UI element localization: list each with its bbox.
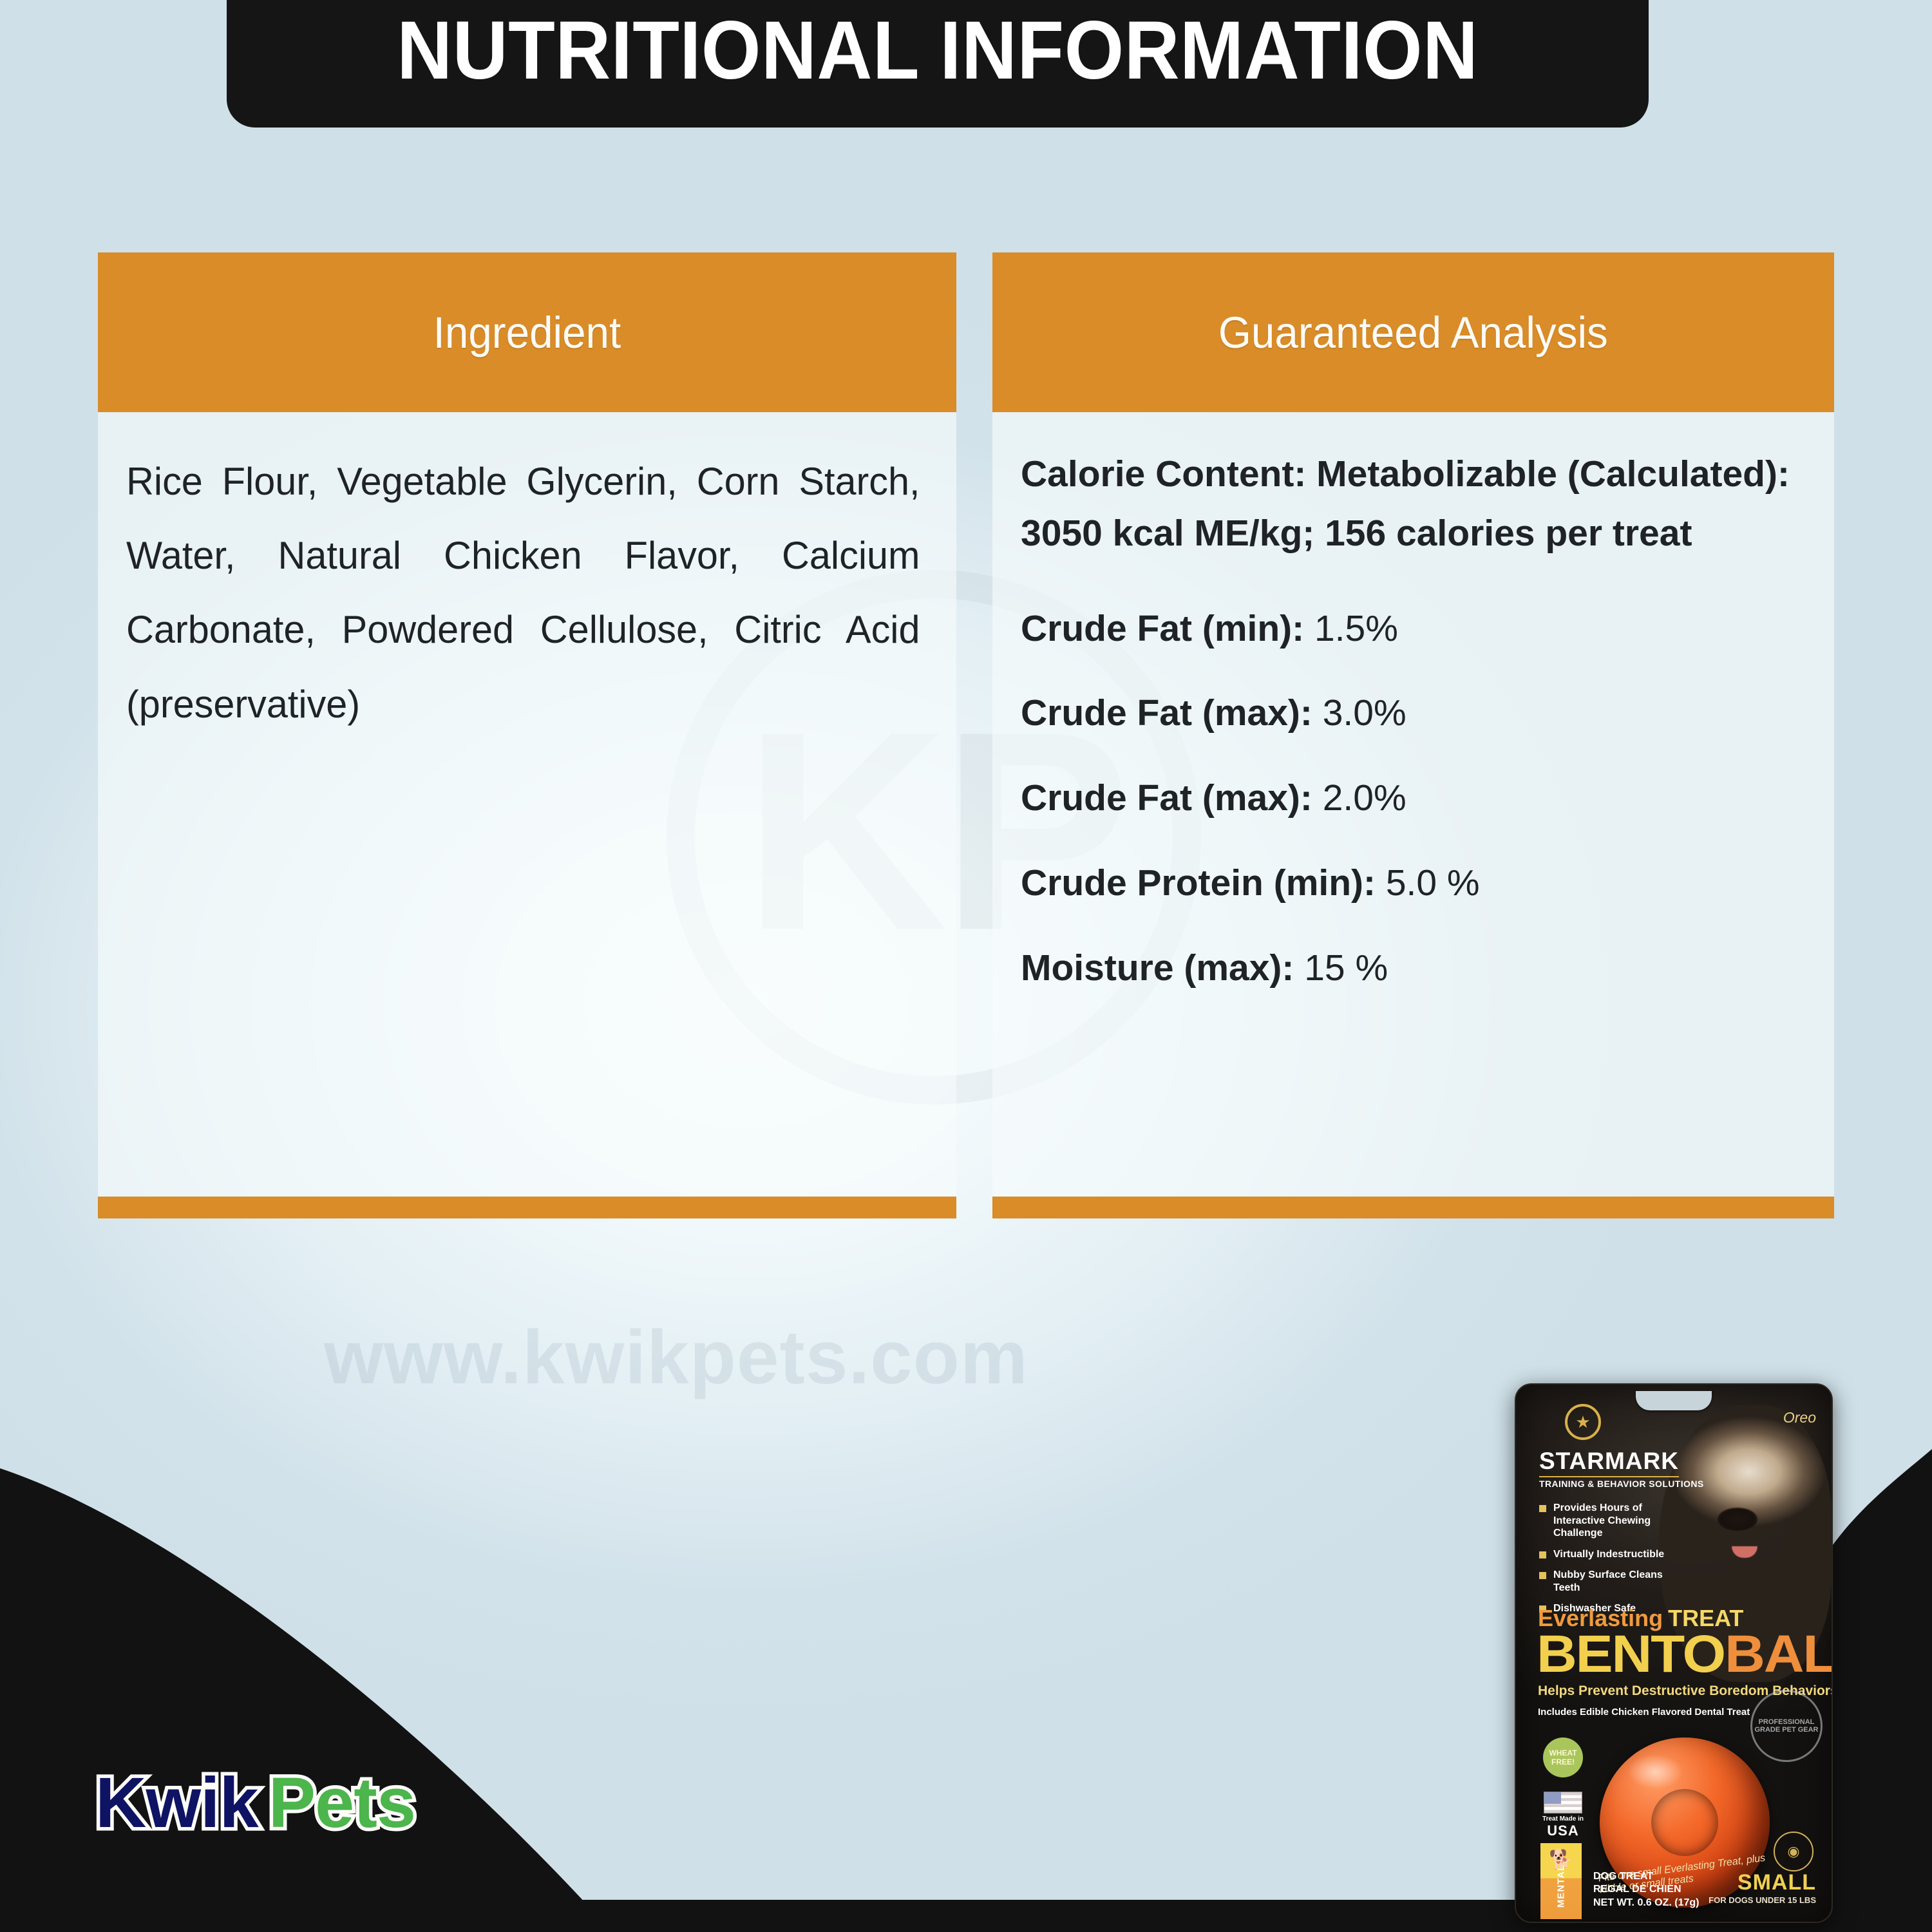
wheat-free-badge: WHEAT FREE! bbox=[1543, 1738, 1583, 1777]
kwik-pets-logo[interactable]: KwikPets bbox=[95, 1768, 415, 1839]
package-product-name-bento: BENTO bbox=[1537, 1625, 1725, 1683]
made-in-country: USA bbox=[1540, 1823, 1586, 1839]
package-dog-treat-label: DOG TREAT bbox=[1593, 1870, 1699, 1884]
package-feature-item: Nubby Surface Cleans Teeth bbox=[1539, 1569, 1687, 1594]
package-size-block: SMALL FOR DOGS UNDER 15 LBS bbox=[1709, 1870, 1816, 1905]
analysis-row-value: 2.0% bbox=[1312, 777, 1406, 819]
analysis-row-label: Crude Protein (min): bbox=[1021, 862, 1376, 904]
bento-ball-highlight bbox=[1627, 1754, 1683, 1789]
package-flavor-name: Oreo bbox=[1783, 1409, 1816, 1426]
made-in-label: Treat Made in bbox=[1540, 1815, 1586, 1823]
analysis-column-footer-bar bbox=[992, 1197, 1834, 1218]
analysis-row-value: 1.5% bbox=[1304, 608, 1398, 649]
analysis-row: Calorie Content: Metabolizable (Calculat… bbox=[1021, 444, 1806, 563]
package-net-weight-block: DOG TREAT REGAL DE CHIEN NET WT. 0.6 OZ.… bbox=[1593, 1870, 1699, 1910]
mental-stimulation-tab: 🐕 MENTAL bbox=[1540, 1843, 1582, 1919]
analysis-column-header: Guaranteed Analysis bbox=[992, 252, 1834, 412]
package-product-name: BENTOBALL bbox=[1537, 1628, 1833, 1681]
analysis-row-label: Moisture (max): bbox=[1021, 947, 1294, 989]
dog-tongue bbox=[1732, 1546, 1757, 1558]
ingredient-list-text: Rice Flour, Vegetable Glycerin, Corn Sta… bbox=[126, 444, 920, 741]
page-title: NUTRITIONAL INFORMATION bbox=[397, 10, 1478, 92]
ingredient-column-header: Ingredient bbox=[98, 252, 956, 412]
ingredient-column-body: Rice Flour, Vegetable Glycerin, Corn Sta… bbox=[98, 412, 956, 1197]
bento-ball-treat-core bbox=[1651, 1789, 1718, 1856]
ingredient-header-label: Ingredient bbox=[433, 307, 621, 358]
analysis-header-label: Guaranteed Analysis bbox=[1218, 307, 1608, 358]
starmark-star-icon: ★ bbox=[1565, 1404, 1601, 1440]
ingredient-column-footer-bar bbox=[98, 1197, 956, 1218]
nutrition-table: Ingredient Rice Flour, Vegetable Glyceri… bbox=[98, 252, 1834, 1218]
package-includes-text: Includes Edible Chicken Flavored Dental … bbox=[1538, 1707, 1750, 1718]
package-feature-item: Provides Hours of Interactive Chewing Ch… bbox=[1539, 1502, 1687, 1540]
analysis-row: Moisture (max): 15 % bbox=[1021, 943, 1806, 994]
analysis-row: Crude Protein (min): 5.0 % bbox=[1021, 858, 1806, 909]
package-feature-item: Virtually Indestructible bbox=[1539, 1548, 1687, 1561]
product-package-image: ★ STARMARK TRAINING & BEHAVIOR SOLUTIONS… bbox=[1515, 1383, 1833, 1923]
analysis-row-value: 3.0% bbox=[1312, 692, 1406, 734]
professional-grade-seal: PROFESSIONAL GRADE PET GEAR bbox=[1750, 1690, 1823, 1762]
analysis-row-label: Crude Fat (min): bbox=[1021, 608, 1304, 649]
analysis-row-label: Calorie Content: Metabolizable (Calculat… bbox=[1021, 453, 1790, 554]
mental-stimulation-label: MENTAL bbox=[1556, 1864, 1567, 1908]
logo-kwik-text: Kwik bbox=[95, 1763, 258, 1842]
package-regal-label: REGAL DE CHIEN bbox=[1593, 1883, 1699, 1897]
analysis-row-value: 5.0 % bbox=[1376, 862, 1480, 904]
gold-seal-icon: ◉ bbox=[1774, 1832, 1814, 1871]
analysis-row-value: 15 % bbox=[1294, 947, 1388, 989]
analysis-rows: Calorie Content: Metabolizable (Calculat… bbox=[1021, 444, 1806, 994]
analysis-row-label: Crude Fat (max): bbox=[1021, 692, 1312, 734]
package-net-weight: NET WT. 0.6 OZ. (17g) bbox=[1593, 1897, 1699, 1910]
package-size-note: FOR DOGS UNDER 15 LBS bbox=[1709, 1895, 1816, 1905]
made-in-usa-badge: Treat Made in USA bbox=[1540, 1792, 1586, 1839]
ingredient-column: Ingredient Rice Flour, Vegetable Glyceri… bbox=[98, 252, 956, 1218]
package-brand-tagline: TRAINING & BEHAVIOR SOLUTIONS bbox=[1539, 1479, 1704, 1489]
analysis-row: Crude Fat (min): 1.5% bbox=[1021, 603, 1806, 655]
analysis-row-label: Crude Fat (max): bbox=[1021, 777, 1312, 819]
package-hang-hole bbox=[1636, 1391, 1712, 1410]
site-url-watermark: www.kwikpets.com bbox=[0, 1314, 1352, 1401]
package-size-label: SMALL bbox=[1709, 1870, 1816, 1895]
usa-flag-icon bbox=[1544, 1792, 1582, 1814]
analysis-row: Crude Fat (max): 3.0% bbox=[1021, 688, 1806, 739]
logo-pets-text: Pets bbox=[269, 1763, 415, 1842]
analysis-column: Guaranteed Analysis Calorie Content: Met… bbox=[992, 252, 1834, 1218]
page-title-bar: NUTRITIONAL INFORMATION bbox=[227, 0, 1649, 128]
analysis-column-body: Calorie Content: Metabolizable (Calculat… bbox=[992, 412, 1834, 1197]
analysis-row: Crude Fat (max): 2.0% bbox=[1021, 773, 1806, 824]
package-brand-name: STARMARK bbox=[1539, 1448, 1679, 1477]
package-product-name-ball: BALL bbox=[1725, 1625, 1833, 1683]
